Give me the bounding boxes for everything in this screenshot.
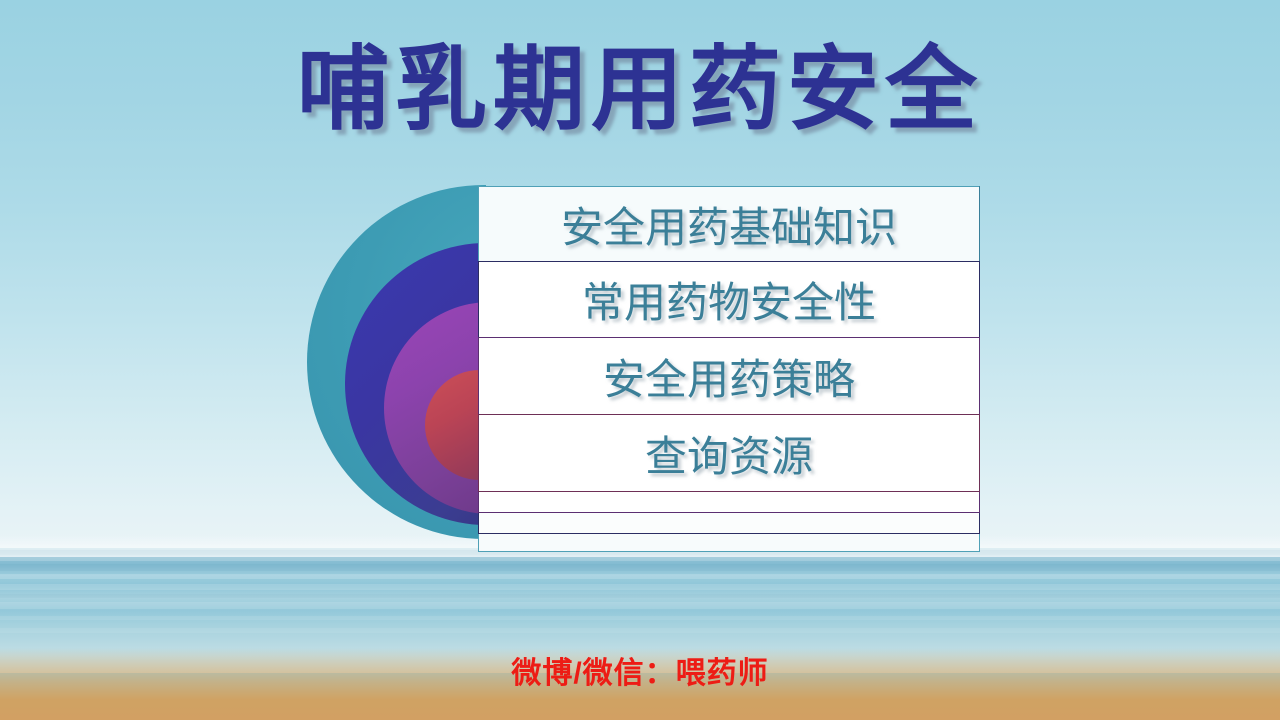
contents-table: 安全用药基础知识 常用药物安全性 安全用药策略 查询资源 <box>478 186 980 552</box>
presentation-slide: 哺乳期用药安全 安全用药基础知识 常用药物安全性 安全用药策略 查询资源 微博 <box>0 0 1280 720</box>
page-title: 哺乳期用药安全 <box>0 38 1280 142</box>
contents-item-4[interactable]: 查询资源 <box>479 415 980 492</box>
contents-item-2[interactable]: 常用药物安全性 <box>479 262 980 338</box>
contents-item-5[interactable] <box>479 492 980 513</box>
table-row[interactable] <box>479 534 980 552</box>
table-row[interactable] <box>479 492 980 513</box>
table-row[interactable]: 安全用药策略 <box>479 338 980 415</box>
footer-credit: 微博/微信：喂药师 <box>0 655 1280 693</box>
table-row[interactable]: 查询资源 <box>479 415 980 492</box>
table-row[interactable] <box>479 513 980 534</box>
table-row[interactable]: 常用药物安全性 <box>479 262 980 338</box>
nested-circles-decoration <box>300 180 486 544</box>
contents-item-6[interactable] <box>479 513 980 534</box>
contents-item-1[interactable]: 安全用药基础知识 <box>479 187 980 262</box>
contents-item-3[interactable]: 安全用药策略 <box>479 338 980 415</box>
table-row[interactable]: 安全用药基础知识 <box>479 187 980 262</box>
contents-item-7[interactable] <box>479 534 980 552</box>
